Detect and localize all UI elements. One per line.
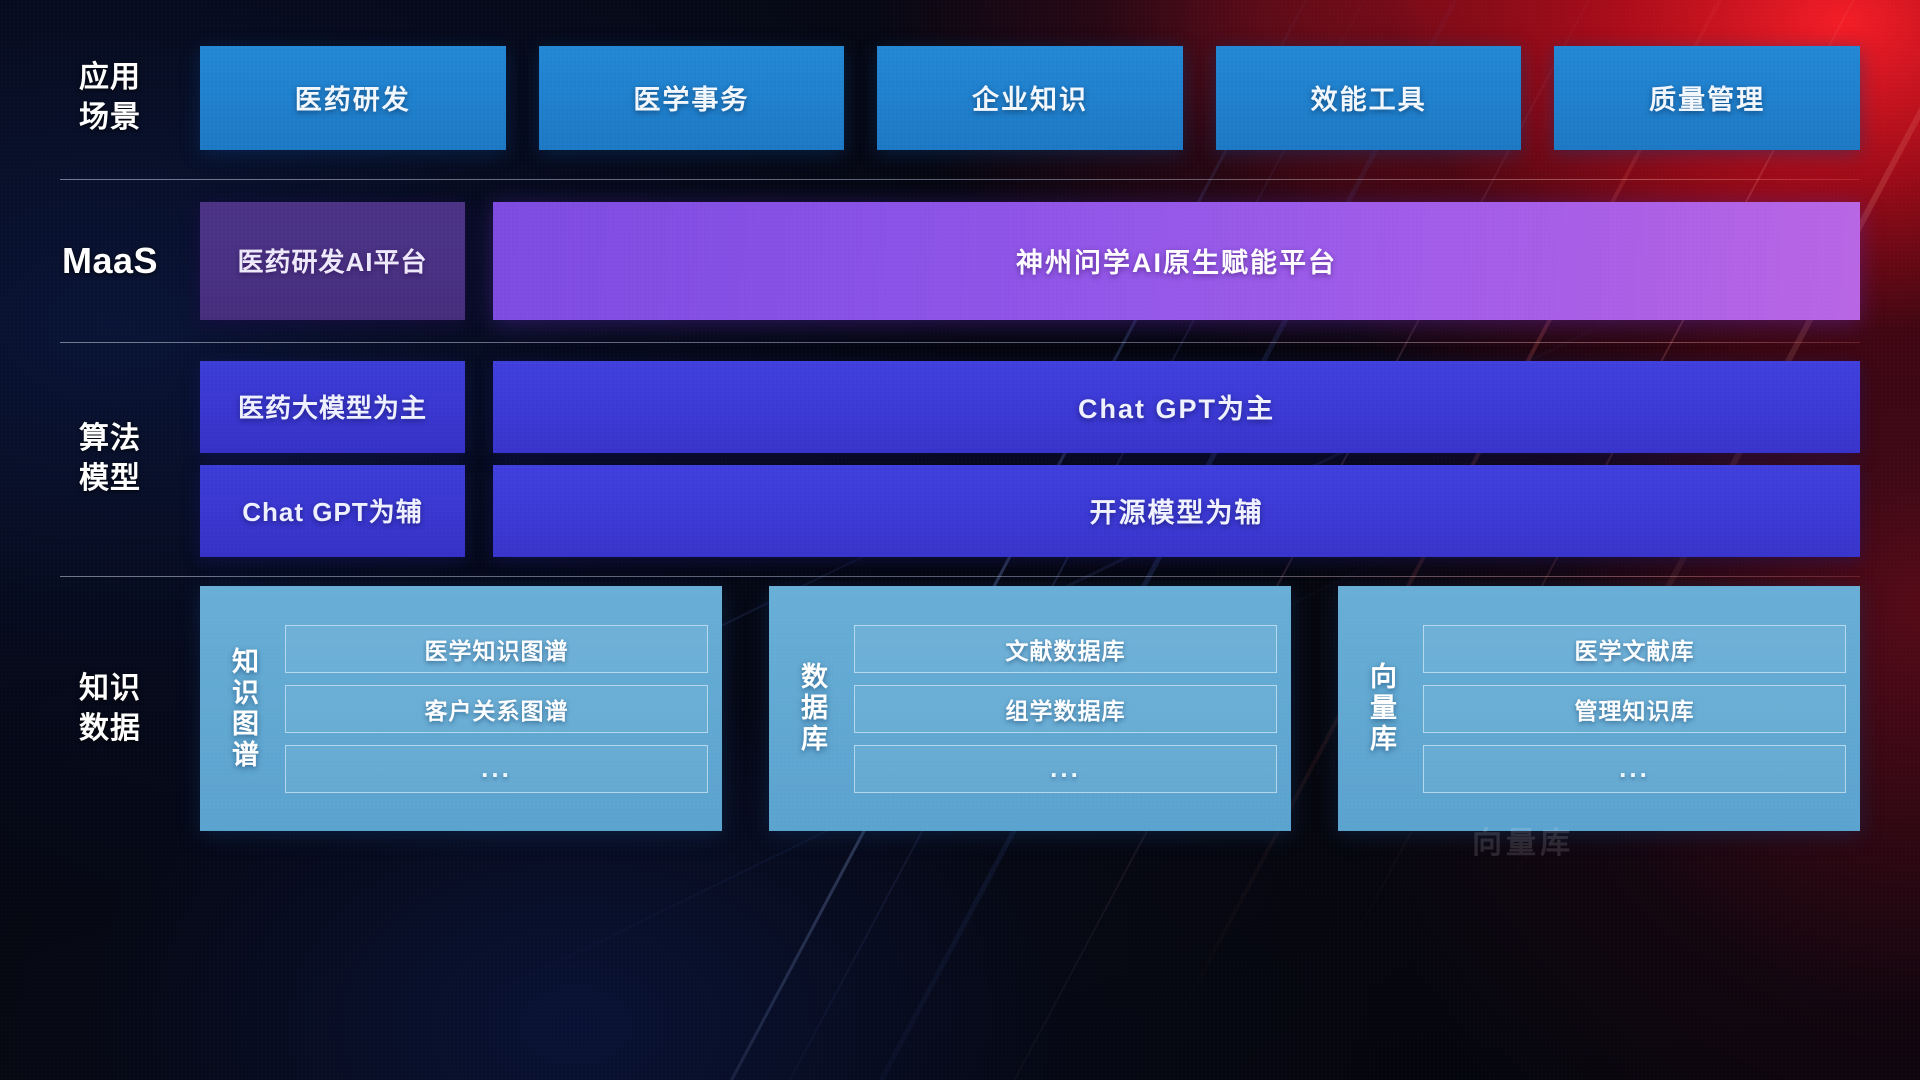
knowledge-item-medical-literature-store[interactable]: 医学文献库 [1423, 625, 1846, 673]
knowledge-item-management-knowledge-store[interactable]: 管理知识库 [1423, 685, 1846, 733]
maas-card-shenzhou-wenxue-platform[interactable]: 神州问学AI原生赋能平台 [493, 202, 1860, 320]
layer-label-application-line1: 应用 [79, 58, 141, 98]
app-card-label: 效能工具 [1311, 78, 1427, 117]
layer-label-algorithm: 算法 模型 [0, 351, 200, 566]
application-cards-row: 医药研发 医学事务 企业知识 效能工具 质量管理 [200, 25, 1860, 170]
knowledge-group-items: 文献数据库 组学数据库 ... [854, 625, 1277, 793]
knowledge-group-vector-store: 向量库 医学文献库 管理知识库 ... [1338, 586, 1860, 831]
layer-label-application-line2: 场景 [79, 98, 141, 138]
app-card-medical-affairs[interactable]: 医学事务 [539, 46, 845, 150]
algo-card-chatgpt-primary[interactable]: Chat GPT为主 [493, 361, 1860, 453]
app-card-label: 医药研发 [295, 78, 411, 117]
algorithm-row-primary: 医药大模型为主 Chat GPT为主 [200, 361, 1860, 453]
app-card-label: 质量管理 [1649, 78, 1765, 117]
maas-card-label: 神州问学AI原生赋能平台 [1016, 241, 1337, 280]
knowledge-item-customer-graph[interactable]: 客户关系图谱 [285, 685, 708, 733]
algo-card-label: Chat GPT为主 [1078, 387, 1275, 426]
algo-card-pharma-llm-primary[interactable]: 医药大模型为主 [200, 361, 465, 453]
knowledge-groups-row: 知识图谱 医学知识图谱 客户关系图谱 ... 数据库 文献数据库 组学数据库 .… [200, 586, 1860, 831]
knowledge-group-items: 医学文献库 管理知识库 ... [1423, 625, 1846, 793]
app-card-enterprise-knowledge[interactable]: 企业知识 [877, 46, 1183, 150]
knowledge-group-knowledge-graph: 知识图谱 医学知识图谱 客户关系图谱 ... [200, 586, 722, 831]
knowledge-item-omics-db[interactable]: 组学数据库 [854, 685, 1277, 733]
algo-card-chatgpt-secondary[interactable]: Chat GPT为辅 [200, 465, 465, 557]
app-card-efficiency-tools[interactable]: 效能工具 [1216, 46, 1522, 150]
layer-label-knowledge-line2: 数据 [79, 709, 141, 749]
knowledge-group-database: 数据库 文献数据库 组学数据库 ... [769, 586, 1291, 831]
knowledge-group-items: 医学知识图谱 客户关系图谱 ... [285, 625, 708, 793]
layer-label-algorithm-line2: 模型 [79, 459, 141, 499]
layer-label-knowledge-line1: 知识 [79, 669, 141, 709]
layer-label-knowledge: 知识 数据 [0, 586, 200, 831]
app-card-quality-management[interactable]: 质量管理 [1554, 46, 1860, 150]
app-card-drug-rd[interactable]: 医药研发 [200, 46, 506, 150]
algo-card-label: Chat GPT为辅 [242, 492, 422, 529]
maas-card-drug-rd-ai-platform[interactable]: 医药研发AI平台 [200, 202, 465, 320]
algorithm-row-secondary: Chat GPT为辅 开源模型为辅 [200, 465, 1860, 557]
bottom-spacer [0, 831, 1860, 1080]
divider-algorithm-knowledge [60, 576, 1860, 577]
knowledge-group-title: 知识图谱 [214, 645, 269, 773]
algo-card-label: 开源模型为辅 [1090, 491, 1264, 530]
maas-row: 医药研发AI平台 神州问学AI原生赋能平台 [200, 188, 1860, 333]
app-card-label: 医学事务 [633, 78, 749, 117]
architecture-diagram: 应用 场景 医药研发 医学事务 企业知识 效能工具 质量管理 MaaS 医药研发… [0, 0, 1920, 1080]
algo-card-opensource-secondary[interactable]: 开源模型为辅 [493, 465, 1860, 557]
algo-card-label: 医药大模型为主 [238, 388, 427, 425]
algorithm-rows: 医药大模型为主 Chat GPT为主 Chat GPT为辅 开源模型为辅 [200, 351, 1860, 566]
top-spacer [0, 0, 1860, 25]
knowledge-group-title: 数据库 [783, 660, 838, 757]
divider-application-maas [60, 179, 1860, 180]
knowledge-item-literature-db[interactable]: 文献数据库 [854, 625, 1277, 673]
knowledge-item-more[interactable]: ... [285, 745, 708, 793]
maas-card-label: 医药研发AI平台 [237, 242, 427, 279]
knowledge-item-more[interactable]: ... [854, 745, 1277, 793]
layer-label-maas: MaaS [0, 188, 200, 333]
app-card-label: 企业知识 [972, 78, 1088, 117]
layer-label-algorithm-line1: 算法 [79, 419, 141, 459]
knowledge-item-more[interactable]: ... [1423, 745, 1846, 793]
knowledge-group-title: 向量库 [1352, 660, 1407, 757]
knowledge-item-medical-graph[interactable]: 医学知识图谱 [285, 625, 708, 673]
divider-maas-algorithm [60, 342, 1860, 343]
layer-label-application: 应用 场景 [0, 25, 200, 170]
